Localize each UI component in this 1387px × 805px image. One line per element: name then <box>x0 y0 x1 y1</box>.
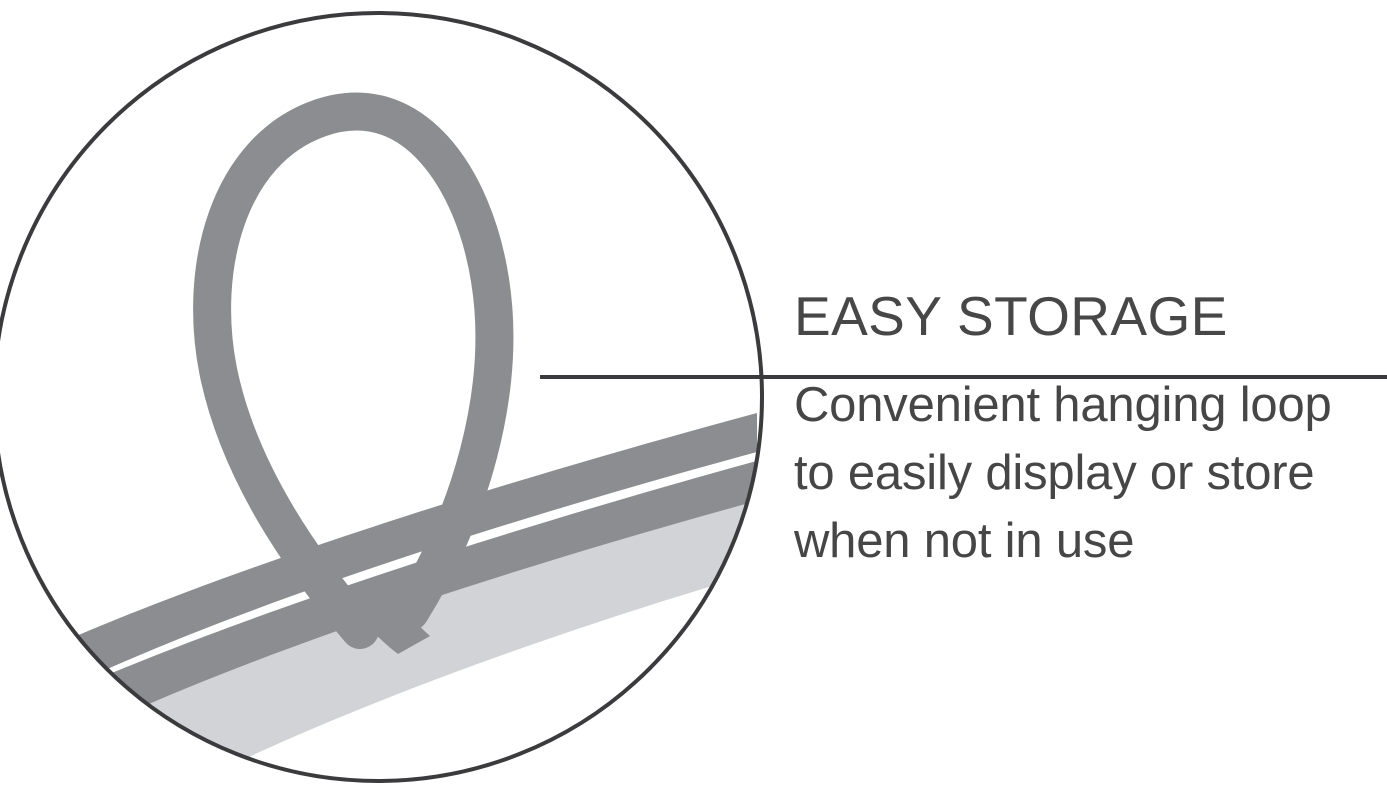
circle-contents <box>40 112 800 805</box>
feature-callout-panel: EASY STORAGE Convenient hanging loop to … <box>0 0 1387 805</box>
description-line-1: Convenient hanging loop <box>794 371 1374 439</box>
callout-text-block: EASY STORAGE Convenient hanging loop to … <box>794 283 1374 575</box>
page-title: EASY STORAGE <box>794 283 1374 349</box>
feature-description: Convenient hanging loop to easily displa… <box>794 349 1374 575</box>
description-line-3: when not in use <box>794 507 1374 575</box>
description-line-2: to easily display or store <box>794 439 1374 507</box>
